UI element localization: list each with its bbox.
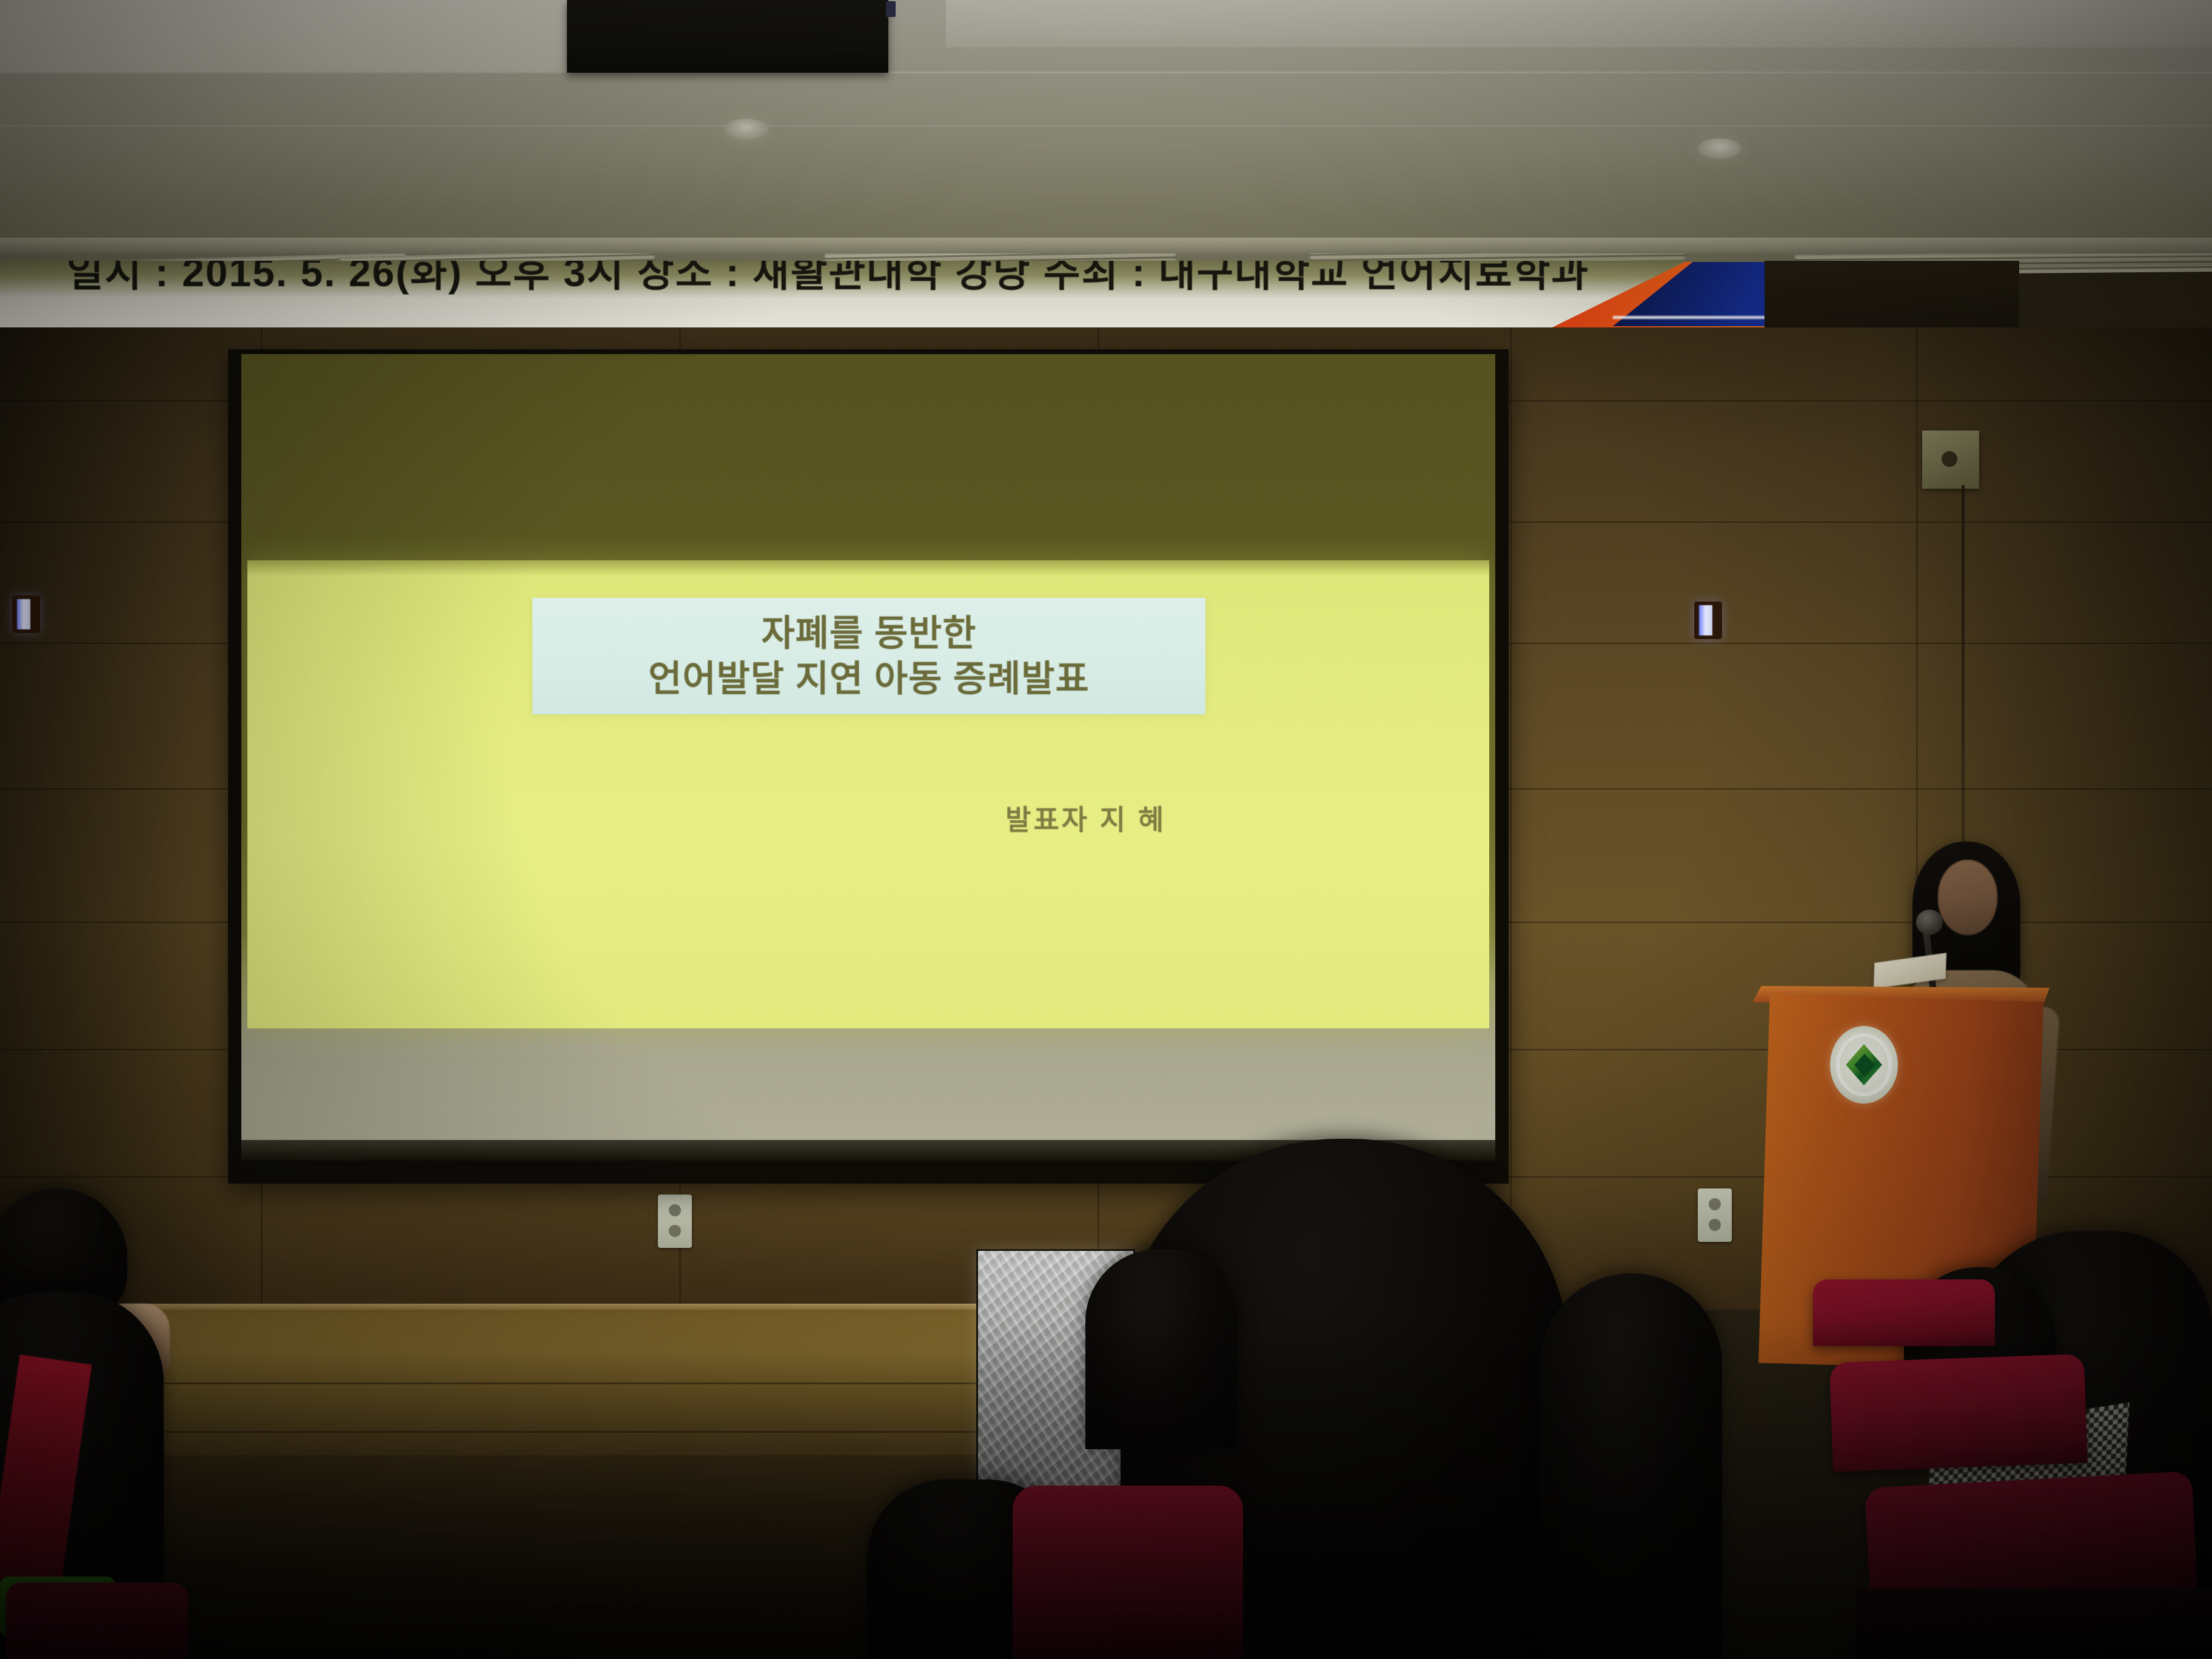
university-emblem-icon: [1830, 1026, 1898, 1104]
ceiling-slab-left: [0, 0, 594, 72]
ceiling: [0, 0, 2212, 261]
wall-control-box-icon: [1922, 431, 1979, 489]
screen-surface: 자폐를 동반한 언어발달 지연 아동 증례발표 발표자 지 혜: [241, 354, 1495, 1161]
projected-slide: 자폐를 동반한 언어발달 지연 아동 증례발표 발표자 지 혜: [247, 560, 1489, 1028]
ceiling-slab-right: [946, 0, 2212, 47]
ceiling-projector-speaker-icon: [567, 0, 888, 73]
wall-power-outlet-icon: [1698, 1188, 1732, 1242]
event-banner: 일시 : 2015. 5. 26(화) 오후 3시 장소 : 새활관대학 강당 …: [0, 261, 2019, 329]
microphone-icon: [1916, 910, 1943, 935]
ceiling-seam: [0, 125, 2212, 127]
slide-presenter-label: 발표자 지 혜: [1005, 798, 1166, 838]
recessed-downlight-icon: [725, 119, 768, 139]
recessed-downlight-icon: [1698, 138, 1741, 159]
projection-screen: 자폐를 동반한 언어발달 지연 아동 증례발표 발표자 지 혜: [228, 349, 1509, 1184]
banner-dark-tail: [1765, 261, 2019, 329]
slide-title-line-2: 언어발달 지연 아동 증례발표: [648, 656, 1089, 702]
slide-title-line-1: 자폐를 동반한: [762, 611, 977, 656]
auditorium-photo: 일시 : 2015. 5. 26(화) 오후 3시 장소 : 새활관대학 강당 …: [0, 0, 2212, 1659]
slide-top-glow: [247, 560, 1489, 576]
hanging-cable: [1962, 485, 1965, 873]
speaker-face: [1938, 860, 1997, 935]
wall-indicator-lamp-right-icon: [1694, 602, 1722, 639]
banner-text: 일시 : 2015. 5. 26(화) 오후 3시 장소 : 새활관대학 강당 …: [67, 261, 1619, 298]
wall-power-outlet-icon: [658, 1195, 692, 1248]
ceiling-seam: [0, 72, 2212, 73]
foreground-shadow: [0, 1319, 2212, 1659]
wall-indicator-lamp-left-icon: [12, 595, 40, 633]
slide-title-box: 자폐를 동반한 언어발달 지연 아동 증례발표: [532, 598, 1205, 714]
ceiling-edge: [0, 238, 2212, 253]
